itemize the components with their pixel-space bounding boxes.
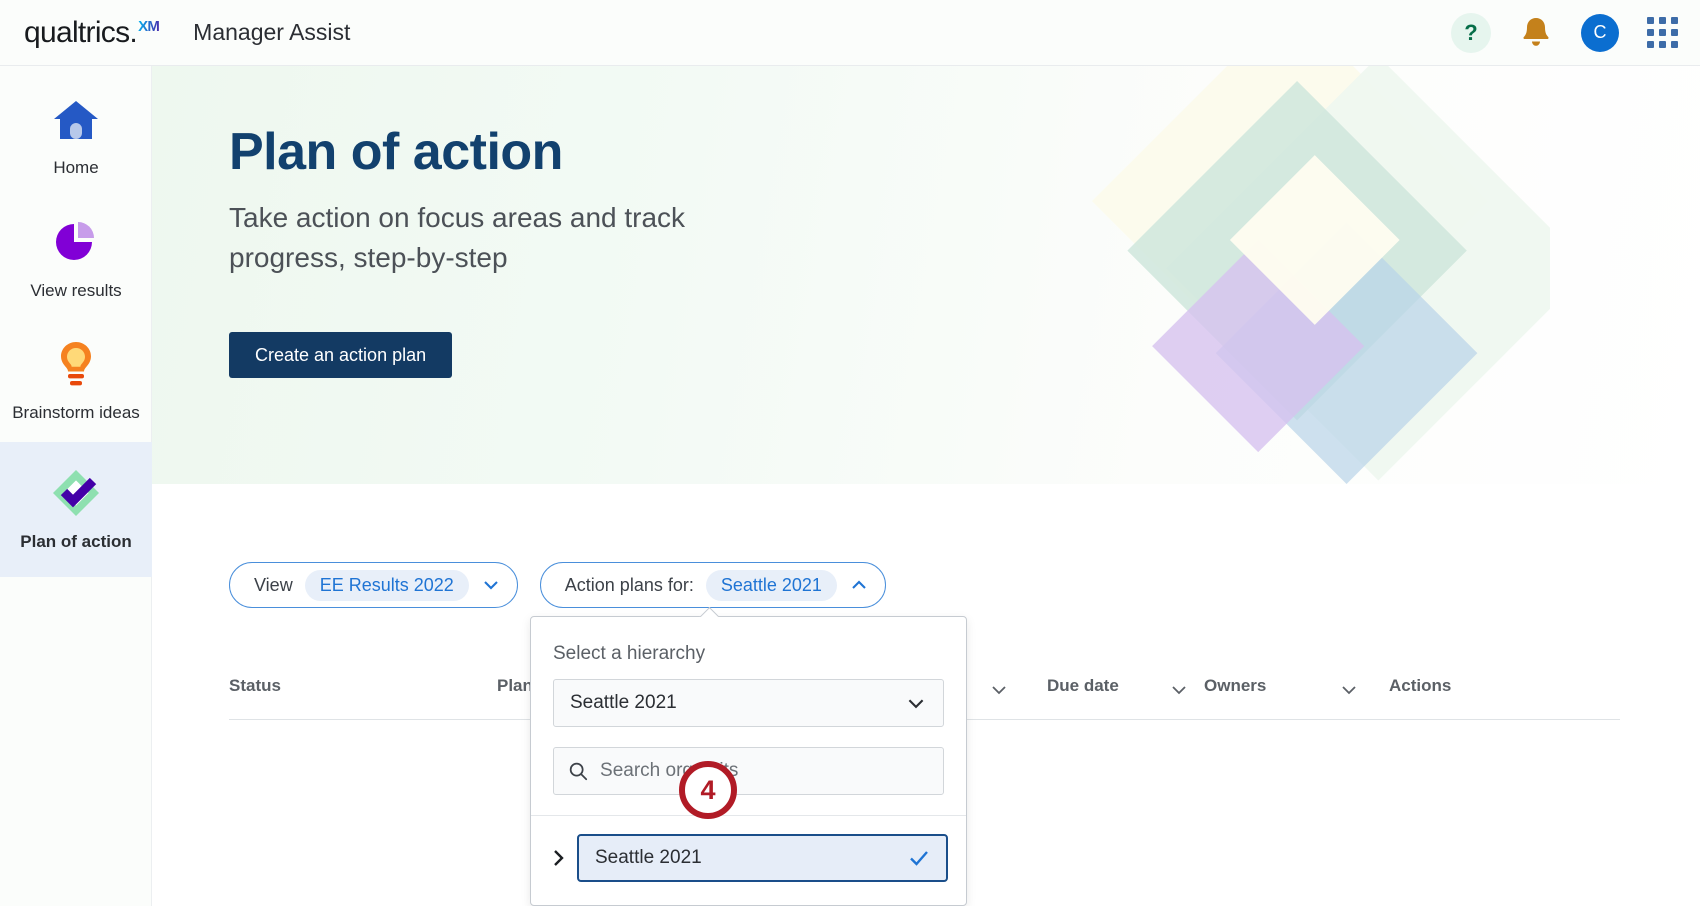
topbar-actions: ? C [1451,13,1678,53]
lightbulb-icon [56,339,96,389]
chevron-down-icon [481,575,501,595]
sidebar-item-view-results[interactable]: View results [0,197,152,320]
search-input[interactable] [600,760,929,782]
diamond-check-icon [50,468,102,518]
org-unit-seattle-2021[interactable]: Seattle 2021 [577,834,948,882]
chevron-down-icon[interactable] [1339,680,1359,700]
grid-dot [1671,17,1678,24]
view-filter-dropdown[interactable]: View EE Results 2022 [229,562,518,608]
create-action-plan-button[interactable]: Create an action plan [229,332,452,378]
grid-dot [1671,41,1678,48]
panel-caret [699,607,719,617]
column-header-plan[interactable]: Plan [497,676,533,696]
action-plans-for-dropdown[interactable]: Action plans for: Seattle 2021 [540,562,886,608]
chevron-down-icon[interactable] [1169,680,1189,700]
help-icon[interactable]: ? [1451,13,1491,53]
grid-dot [1647,17,1654,24]
chevron-down-icon[interactable] [989,680,1009,700]
app-title: Manager Assist [193,19,350,46]
decorative-diamond-artwork [1030,66,1550,484]
hierarchy-dropdown-panel: Select a hierarchy Seattle 2021 Seattle … [530,616,967,906]
page-title: Plan of action [229,122,563,182]
help-glyph: ? [1464,20,1477,46]
avatar-initial: C [1594,22,1607,43]
hierarchy-select-value: Seattle 2021 [570,692,677,714]
search-icon [568,760,588,782]
column-header-status[interactable]: Status [229,676,281,696]
brand-wordmark: qualtrics [24,16,129,50]
step-number: 4 [700,775,715,806]
brand-xm-superscript: XM [138,18,159,35]
avatar[interactable]: C [1581,14,1619,52]
chevron-right-icon[interactable] [547,847,569,869]
org-unit-label: Seattle 2021 [595,847,702,869]
grid-dot [1647,41,1654,48]
grid-dot [1659,41,1666,48]
grid-dot [1659,29,1666,36]
select-hierarchy-label: Select a hierarchy [553,643,966,665]
home-icon [52,94,100,144]
filter-bar: View EE Results 2022 Action plans for: S… [229,562,886,608]
sidebar-item-label: Plan of action [20,530,131,555]
action-plans-for-label: Action plans for: [565,575,694,596]
sidebar-item-label: Home [53,156,98,181]
left-sidebar: Home View results Brainstorm ideas [0,66,152,906]
view-filter-value: EE Results 2022 [305,570,469,601]
check-icon [906,845,932,871]
chevron-up-icon [849,575,869,595]
pie-chart-icon [53,217,99,267]
step-annotation-badge: 4 [679,761,737,819]
app-grid-icon[interactable] [1647,17,1678,48]
sidebar-item-home[interactable]: Home [0,66,152,197]
chevron-down-icon [905,692,927,714]
sidebar-item-label: Brainstorm ideas [12,401,140,426]
grid-dot [1659,17,1666,24]
column-header-due-date[interactable]: Due date [1047,676,1119,696]
hero-banner: Plan of action Take action on focus area… [152,66,1700,484]
notifications-bell-icon[interactable] [1519,15,1553,51]
hero-subtitle: Take action on focus areas and track pro… [229,198,789,278]
top-navigation-bar: qualtrics.XM Manager Assist ? C [0,0,1700,66]
grid-dot [1647,29,1654,36]
panel-divider [531,815,966,816]
action-plans-for-value: Seattle 2021 [706,570,837,601]
view-filter-label: View [254,575,293,596]
grid-dot [1671,29,1678,36]
sidebar-item-label: View results [30,279,121,304]
column-header-actions: Actions [1389,676,1451,696]
column-header-owners[interactable]: Owners [1204,676,1266,696]
hierarchy-select[interactable]: Seattle 2021 [553,679,944,727]
sidebar-item-plan-of-action[interactable]: Plan of action [0,442,152,577]
org-unit-row: Seattle 2021 [547,834,966,882]
org-unit-search[interactable] [553,747,944,795]
sidebar-item-brainstorm-ideas[interactable]: Brainstorm ideas [0,319,152,442]
qualtrics-logo[interactable]: qualtrics.XM [24,16,159,50]
